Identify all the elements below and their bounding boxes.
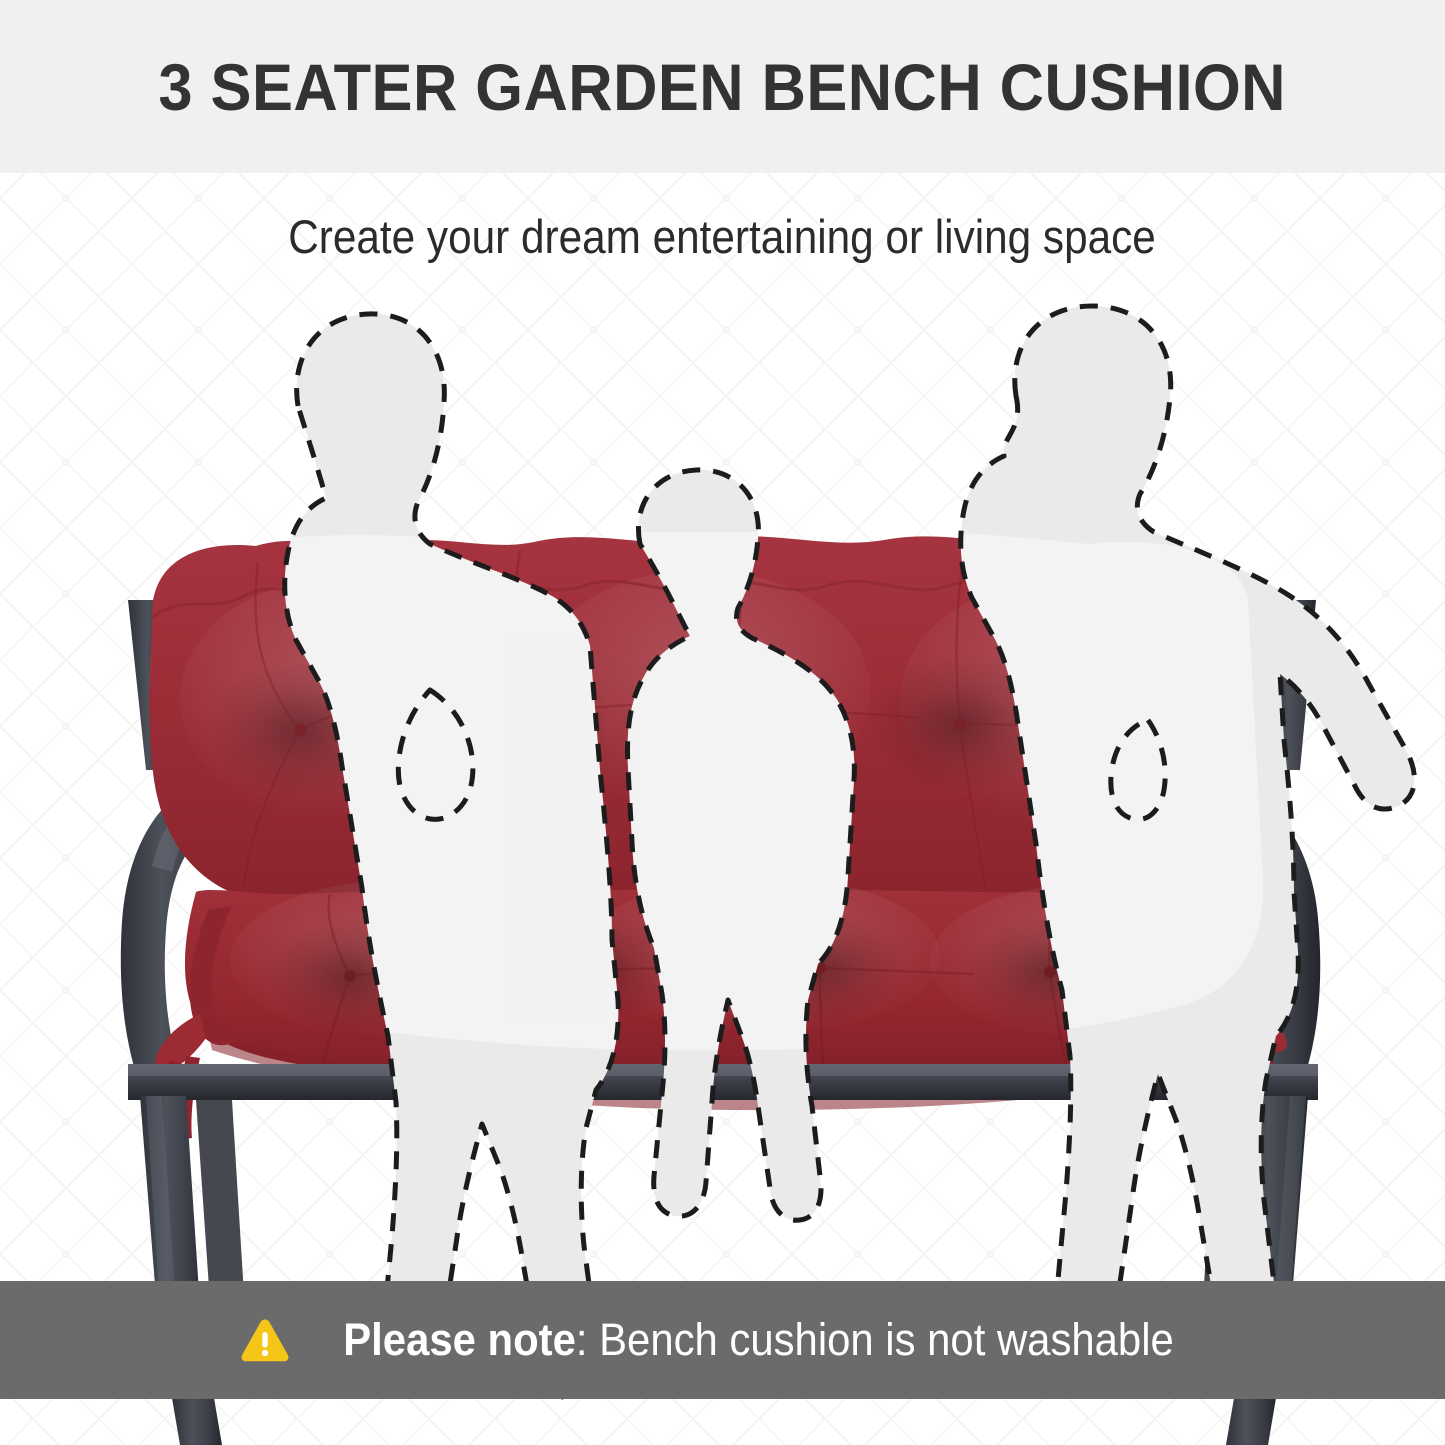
bench-cushion-illustration (0, 300, 1445, 1445)
note-text: Please note: Bench cushion is not washab… (343, 1314, 1174, 1366)
subtitle-text: Create your dream entertaining or living… (289, 209, 1157, 264)
header-band: 3 SEATER GARDEN BENCH CUSHION (0, 0, 1445, 173)
note-band: Please note: Bench cushion is not washab… (0, 1281, 1445, 1399)
note-bold-label: Please note (343, 1314, 576, 1365)
page-title: 3 SEATER GARDEN BENCH CUSHION (159, 49, 1287, 125)
note-rest-text: : Bench cushion is not washable (576, 1314, 1174, 1365)
subtitle-wrap: Create your dream entertaining or living… (0, 196, 1445, 276)
product-banner: 3 SEATER GARDEN BENCH CUSHION Create you… (0, 0, 1445, 1445)
warning-triangle-icon (240, 1317, 290, 1363)
